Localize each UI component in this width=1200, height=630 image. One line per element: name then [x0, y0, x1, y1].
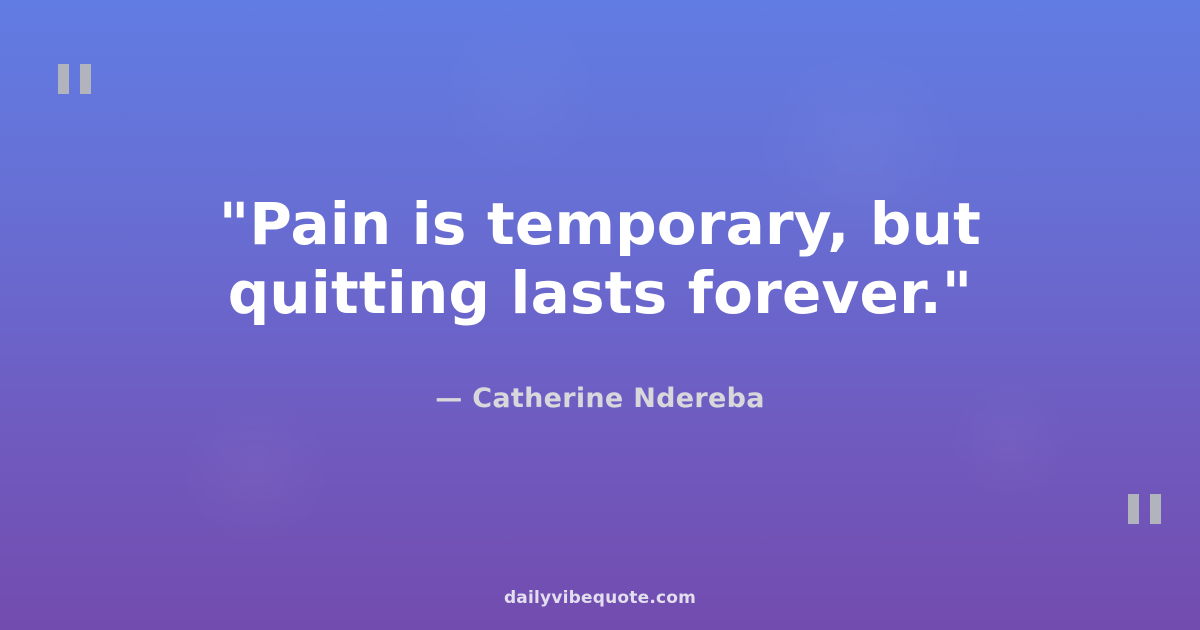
quote-attribution: — Catherine Ndereba: [435, 383, 765, 414]
quote-text: "Pain is temporary, but quitting lasts f…: [90, 190, 1110, 327]
site-url-label: dailyvibequote.com: [504, 588, 696, 608]
quote-card: "Pain is temporary, but quitting lasts f…: [0, 0, 1200, 630]
footer: dailyvibequote.com: [0, 588, 1200, 608]
quote-content: "Pain is temporary, but quitting lasts f…: [0, 0, 1200, 630]
